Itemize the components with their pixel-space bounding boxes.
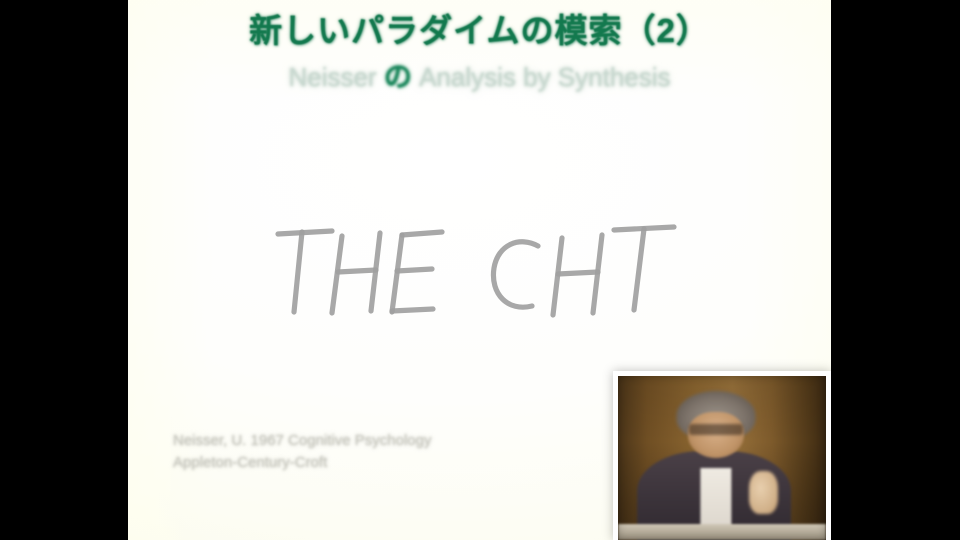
slide-title: 新しいパラダイムの模索（2） <box>128 14 831 49</box>
subtitle-author: Neisser <box>288 62 376 92</box>
letterbox-bar-right <box>831 0 960 540</box>
handwritten-stimulus-glyphs <box>270 218 690 322</box>
handwritten-stimulus <box>128 218 831 322</box>
citation-line-2: Appleton-Century-Croft <box>173 452 603 474</box>
subtitle-concept: Analysis by Synthesis <box>419 62 670 92</box>
speaker-hand <box>749 471 778 514</box>
subtitle-japanese-particle: の <box>384 61 412 92</box>
speaker-video-inset <box>613 371 831 540</box>
slide-citation: Neisser, U. 1967 Cognitive Psychology Ap… <box>173 430 603 474</box>
speaker-glasses <box>689 424 743 435</box>
slide-subtitle: Neisser の Analysis by Synthesis <box>128 55 831 95</box>
slide-heading-block: 新しいパラダイムの模索（2） Neisser の Analysis by Syn… <box>128 14 831 95</box>
screenshot-viewport: 新しいパラダイムの模索（2） Neisser の Analysis by Syn… <box>0 0 960 540</box>
speaker-face <box>688 412 744 458</box>
presentation-slide: 新しいパラダイムの模索（2） Neisser の Analysis by Syn… <box>128 0 831 540</box>
speaker-video-frame <box>618 376 826 540</box>
lectern-edge <box>618 524 826 540</box>
letterbox-bar-left <box>0 0 128 540</box>
citation-line-1: Neisser, U. 1967 Cognitive Psychology <box>173 430 603 452</box>
